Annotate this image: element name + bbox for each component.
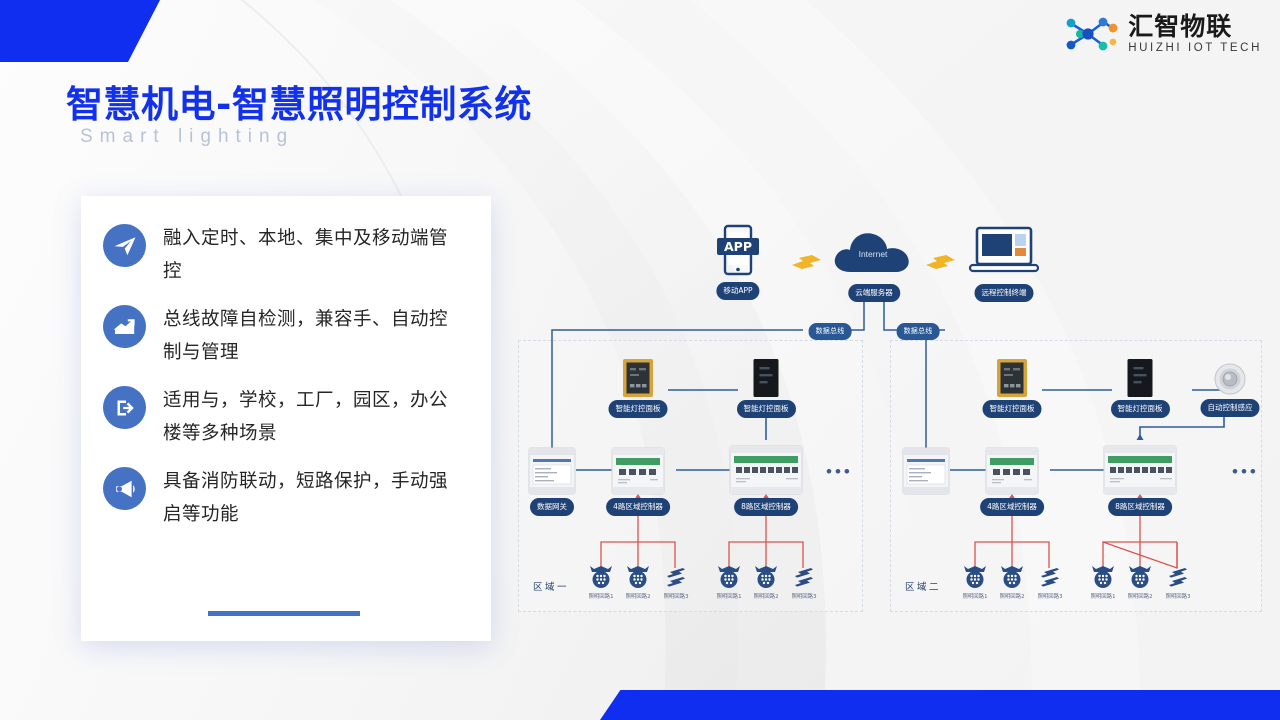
fluorescent-tube-icon — [1165, 564, 1191, 590]
node-label: 智能灯控面板 — [609, 400, 668, 418]
logo-chinese-name: 汇智物联 — [1128, 14, 1262, 39]
laptop-icon — [968, 226, 1040, 278]
megaphone-icon — [103, 467, 146, 510]
mobile-app-icon: APP — [717, 224, 759, 280]
node-label: 数据网关 — [530, 498, 574, 516]
led-luminaire-icon — [588, 564, 614, 590]
svg-text:APP: APP — [724, 239, 752, 254]
circuit-label: 照明回路1 — [963, 592, 988, 600]
node-label: 8路区域控制器 — [734, 498, 798, 516]
diagram-node-controller-8ch-zone1: 8路区域控制器 — [728, 444, 804, 501]
list-item: 具备消防联动，短路保护，手动强启等功能 — [103, 465, 471, 531]
diagram-node-controller-8ch-zone2: 8路区域控制器 — [1102, 444, 1178, 501]
data-gateway-icon — [527, 446, 577, 496]
node-label: 4路区域控制器 — [606, 498, 670, 516]
fluorescent-tube-icon — [663, 564, 689, 590]
svg-text:Internet: Internet — [859, 249, 888, 259]
node-label: 云端服务器 — [848, 284, 900, 302]
bottom-right-accent-shape — [600, 690, 1280, 720]
motion-sensor-icon — [1213, 362, 1247, 396]
node-label: 4路区域控制器 — [980, 498, 1044, 516]
circuit-label: 照明回路3 — [1166, 592, 1191, 600]
zone2-more-indicator: ••• — [1232, 462, 1259, 482]
list-item: 融入定时、本地、集中及移动端管控 — [103, 222, 471, 288]
page-subtitle: Smart lighting — [80, 126, 294, 148]
feature-card: 融入定时、本地、集中及移动端管控 总线故障自检测，兼容手、自动控制与管理 适用与… — [81, 196, 491, 641]
data-gateway-icon — [901, 446, 951, 496]
circuit-label: 照明回路2 — [754, 592, 779, 600]
zone1-more-indicator: ••• — [826, 462, 853, 482]
page-title: 智慧机电-智慧照明控制系统 — [66, 74, 532, 128]
system-architecture-diagram: 区域一 区域二 — [508, 212, 1272, 620]
circuit-label: 照明回路3 — [792, 592, 817, 600]
diagram-node-controller-4ch-zone2: 4路区域控制器 — [984, 446, 1040, 501]
node-label: 智能灯控面板 — [737, 400, 796, 418]
molecule-network-icon — [1062, 14, 1120, 54]
led-luminaire-icon — [716, 564, 742, 590]
zone-label: 区域一 — [533, 579, 569, 593]
card-accent-underline — [208, 611, 360, 616]
feature-text: 适用与，学校，工厂，园区，办公楼等多种场景 — [163, 384, 461, 450]
feature-text: 具备消防联动，短路保护，手动强启等功能 — [163, 465, 461, 531]
diagram-node-controller-4ch-zone1: 4路区域控制器 — [610, 446, 666, 501]
node-label: 8路区域控制器 — [1108, 498, 1172, 516]
smart-light-panel-icon — [622, 358, 654, 398]
logo-english-name: HUIZHI IOT TECH — [1128, 43, 1262, 55]
led-luminaire-icon — [753, 564, 779, 590]
circuit-label: 照明回路2 — [626, 592, 651, 600]
led-luminaire-icon — [1090, 564, 1116, 590]
smart-light-panel-icon — [753, 358, 780, 398]
smart-light-panel-icon — [996, 358, 1028, 398]
diagram-node-gateway-zone2 — [901, 446, 951, 501]
sign-out-icon — [103, 386, 146, 429]
circuit-label: 照明回路2 — [1000, 592, 1025, 600]
led-luminaire-icon — [625, 564, 651, 590]
zone-controller-icon — [984, 446, 1040, 496]
circuit-label: 照明回路3 — [664, 592, 689, 600]
paper-plane-icon — [103, 224, 146, 267]
node-label: 远程控制终端 — [975, 284, 1034, 302]
node-label: 智能灯控面板 — [1111, 400, 1170, 418]
circuit-label: 照明回路2 — [1128, 592, 1153, 600]
diagram-node-mobile-app: APP 移动APP — [717, 224, 759, 285]
feature-text: 总线故障自检测，兼容手、自动控制与管理 — [163, 303, 461, 369]
list-item: 适用与，学校，工厂，园区，办公楼等多种场景 — [103, 384, 471, 450]
diagram-node-light-panel-gold-zone1: 智能灯控面板 — [622, 358, 654, 403]
lightning-bolt-icon — [924, 252, 958, 272]
node-label: 移动APP — [716, 282, 759, 300]
bus-label-1: 数据总线 — [809, 323, 852, 340]
led-luminaire-icon — [1127, 564, 1153, 590]
fluorescent-tube-icon — [791, 564, 817, 590]
diagram-node-light-panel-gold-zone2: 智能灯控面板 — [996, 358, 1028, 403]
zone-controller-icon — [610, 446, 666, 496]
diagram-node-light-panel-dark-zone2: 智能灯控面板 — [1127, 358, 1154, 403]
circuit-label: 照明回路1 — [1091, 592, 1116, 600]
list-item: 总线故障自检测，兼容手、自动控制与管理 — [103, 303, 471, 369]
circuit-label: 照明回路1 — [717, 592, 742, 600]
zone-label: 区域二 — [905, 579, 941, 593]
circuit-label: 照明回路3 — [1038, 592, 1063, 600]
lightning-bolt-icon — [790, 252, 824, 272]
circuit-label: 照明回路1 — [589, 592, 614, 600]
led-luminaire-icon — [999, 564, 1025, 590]
diagram-node-remote-terminal: 远程控制终端 — [968, 226, 1040, 283]
led-luminaire-icon — [962, 564, 988, 590]
diagram-node-gateway-zone1: 数据网关 — [527, 446, 577, 501]
diagram-node-cloud-server: Internet 云端服务器 — [830, 226, 918, 281]
feature-text: 融入定时、本地、集中及移动端管控 — [163, 222, 461, 288]
diagram-node-occupancy-sensor-zone2: 自动控制感应 — [1213, 362, 1247, 401]
feature-list: 融入定时、本地、集中及移动端管控 总线故障自检测，兼容手、自动控制与管理 适用与… — [81, 196, 491, 531]
fluorescent-tube-icon — [1037, 564, 1063, 590]
cloud-icon: Internet — [830, 226, 918, 276]
diagram-node-light-panel-dark-zone1: 智能灯控面板 — [753, 358, 780, 403]
node-label: 智能灯控面板 — [983, 400, 1042, 418]
node-label: 自动控制感应 — [1201, 399, 1260, 417]
zone-controller-icon — [728, 444, 804, 496]
chart-trend-up-icon — [103, 305, 146, 348]
brand-logo: 汇智物联 HUIZHI IOT TECH — [1062, 14, 1262, 55]
bus-label-2: 数据总线 — [897, 323, 940, 340]
smart-light-panel-icon — [1127, 358, 1154, 398]
zone-controller-icon — [1102, 444, 1178, 496]
